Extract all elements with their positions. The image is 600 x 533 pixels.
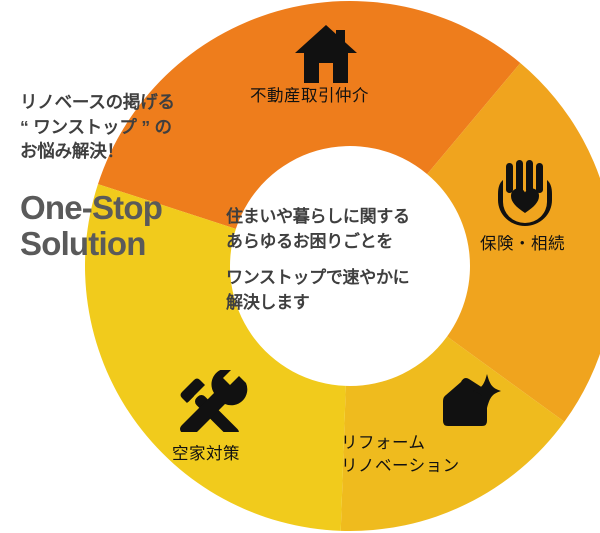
page-title-line-2: Solution — [20, 226, 235, 263]
lead-line-3: お悩み解決！ — [20, 139, 235, 164]
left-headline-block: リノベースの掲げる “ ワンストップ ” の お悩み解決！ One-Stop S… — [20, 90, 235, 263]
segment-label-line: リノベーション — [341, 455, 460, 478]
segment-label-insurance: 保険・相続 — [480, 233, 565, 255]
center-paragraph-1-line-2: あらゆるお困りごとを — [226, 230, 456, 255]
segment-label-reform: リフォーム リノベーション — [341, 432, 460, 478]
segment-label-real-estate: 不動産取引仲介 — [250, 85, 369, 107]
segment-label-line: 空家対策 — [172, 443, 240, 465]
segment-label-line: 不動産取引仲介 — [250, 85, 369, 107]
house-icon — [295, 25, 357, 88]
page-title: One-Stop Solution — [20, 190, 235, 264]
hammer-wrench-icon — [178, 370, 250, 437]
segment-label-vacant-house: 空家対策 — [172, 443, 240, 465]
center-paragraph-2-line-2: 解決します — [226, 291, 456, 316]
lead-line-2: “ ワンストップ ” の — [20, 115, 235, 140]
center-paragraph-2: ワンストップで速やかに 解決します — [226, 266, 456, 315]
center-paragraph-2-line-1: ワンストップで速やかに — [226, 266, 456, 291]
center-paragraph-1-line-1: 住まいや暮らしに関する — [226, 205, 456, 230]
house-sparkle-icon — [437, 374, 501, 437]
center-paragraph-1: 住まいや暮らしに関する あらゆるお困りごとを — [226, 205, 456, 254]
lead-line-1: リノベースの掲げる — [20, 90, 235, 115]
hand-heart-icon — [498, 160, 552, 231]
one-stop-solution-figure: 不動産取引仲介 保険・相続 リフォーム リノベーション 空家対策 リノベースの掲… — [0, 0, 600, 533]
segment-label-line: リフォーム — [341, 432, 460, 455]
segment-label-line: 保険・相続 — [480, 233, 565, 255]
page-title-line-1: One-Stop — [20, 190, 235, 227]
center-description-block: 住まいや暮らしに関する あらゆるお困りごとを ワンストップで速やかに 解決します — [226, 205, 456, 316]
